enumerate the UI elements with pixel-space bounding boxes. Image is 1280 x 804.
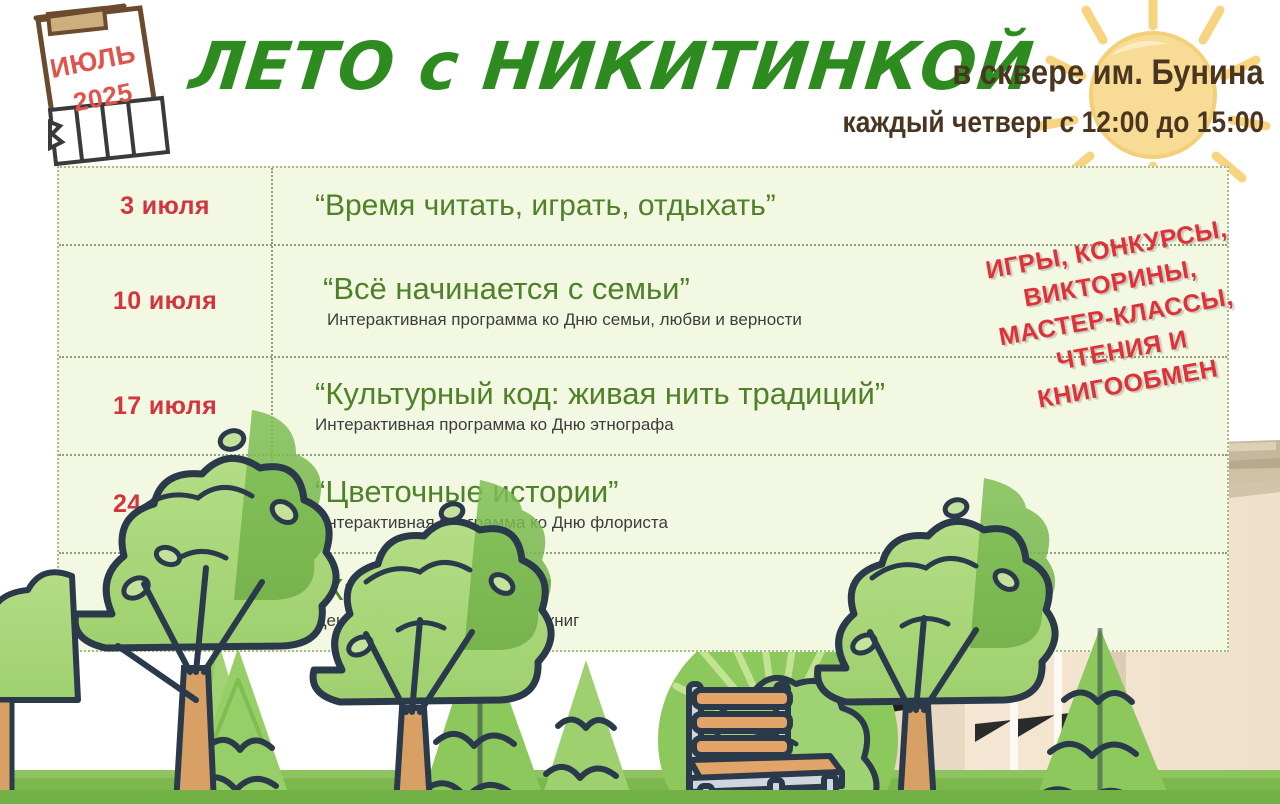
event-title: “Всё начинается с семьи” — [323, 271, 1227, 306]
row-date: 31 июля — [59, 554, 273, 650]
event-title: “Книга в сердце” — [315, 572, 1227, 607]
event-description: Интерактивная программа ко Дню этнографа — [315, 415, 1227, 435]
fir-tree-icon — [170, 640, 266, 804]
row-date: 10 июля — [59, 246, 273, 356]
table-row[interactable]: 24 июля “Цветочные истории” Интерактивна… — [59, 456, 1227, 554]
event-description: Интерактивная программа ко Дню семьи, лю… — [327, 310, 1227, 330]
row-date: 3 июля — [59, 168, 273, 244]
table-row[interactable]: 10 июля “Всё начинается с семьи” Интерак… — [59, 246, 1227, 358]
schedule-time-label: каждый четверг с 12:00 до 15:00 — [842, 108, 1264, 138]
table-row[interactable]: 17 июля “Культурный код: живая нить трад… — [59, 358, 1227, 456]
row-content: “Всё начинается с семьи” Интерактивная п… — [273, 246, 1227, 356]
calendar-sheet: ИЮЛЬ 2025 — [14, 2, 182, 170]
event-description: Интерактивная программа ко Дню флориста — [315, 513, 1227, 533]
event-title: “Цветочные истории” — [315, 474, 1227, 509]
table-row[interactable]: 31 июля “Книга в сердце” День вспоминани… — [59, 554, 1227, 650]
row-content: “Культурный код: живая нить традиций” Ин… — [273, 358, 1227, 454]
row-content: “Цветочные истории” Интерактивная програ… — [273, 456, 1227, 552]
row-content: “Книга в сердце” День вспоминания любимы… — [273, 554, 1227, 650]
schedule-table: 3 июля “Время читать, играть, отдыхать” … — [57, 166, 1229, 652]
event-description: День вспоминания любимых книг — [315, 611, 1227, 631]
event-title: “Время читать, играть, отдыхать” — [315, 189, 1227, 223]
fir-tree-icon — [540, 660, 634, 804]
fir-tree-icon — [186, 648, 292, 804]
row-date: 24 июля — [59, 456, 273, 552]
row-date: 17 июля — [59, 358, 273, 454]
row-content: “Время читать, играть, отдыхать” — [273, 168, 1227, 244]
poster-root: 3 июля “Время читать, играть, отдыхать” … — [0, 0, 1280, 804]
page-title: ЛЕТО с НИКИТИНКОЙ — [187, 34, 1037, 100]
bench-icon — [689, 684, 842, 804]
event-title: “Культурный код: живая нить традиций” — [315, 376, 1227, 411]
fir-tree-icon — [1034, 628, 1172, 804]
table-row[interactable]: 3 июля “Время читать, играть, отдыхать” — [59, 168, 1227, 246]
venue-label: в сквере им. Бунина — [953, 55, 1264, 91]
header: ЛЕТО с НИКИТИНКОЙ в сквере им. Бунина ка… — [0, 0, 1280, 165]
